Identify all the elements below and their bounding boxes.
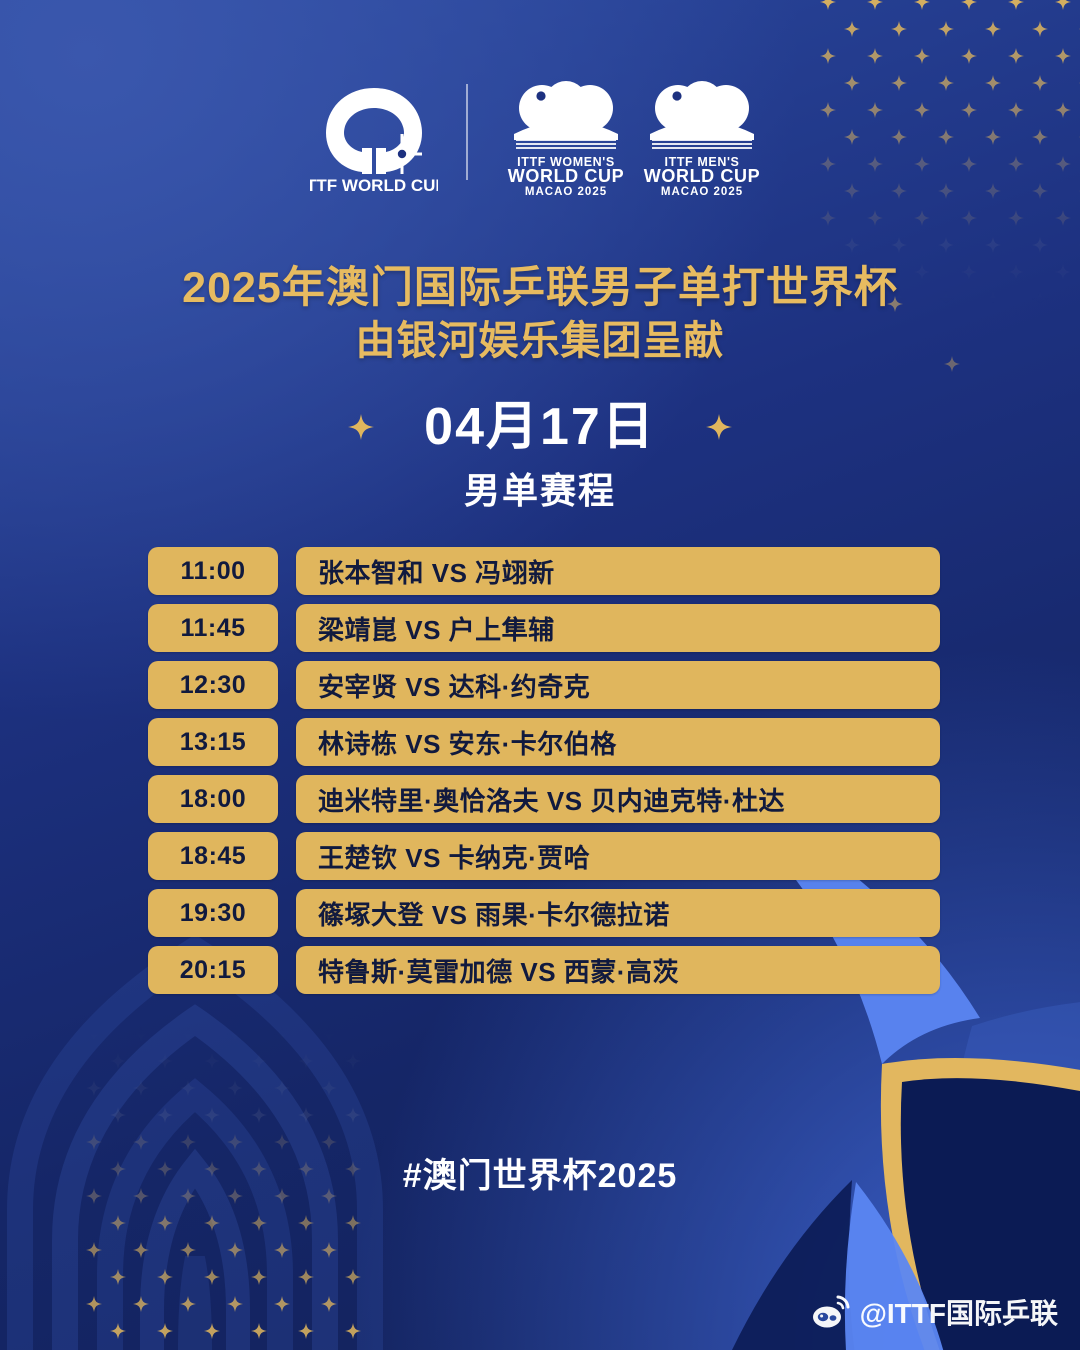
sparkle-icon bbox=[914, 210, 930, 226]
sparkle-icon bbox=[157, 1269, 173, 1285]
sparkle-icon bbox=[204, 1323, 220, 1339]
sparkle-icon bbox=[961, 210, 977, 226]
sparkle-icon bbox=[251, 1323, 267, 1339]
sparkle-icon bbox=[133, 1080, 149, 1096]
sparkle-icon bbox=[204, 1053, 220, 1069]
event-title: 2025年澳门国际乒联男子单打世界杯 由银河娱乐集团呈献 bbox=[0, 262, 1080, 368]
sparkle-icon bbox=[985, 237, 1001, 253]
svg-text:WORLD CUP: WORLD CUP bbox=[644, 166, 760, 186]
sparkle-icon bbox=[110, 1323, 126, 1339]
sparkle-icon bbox=[867, 48, 883, 64]
svg-text:MACAO 2025: MACAO 2025 bbox=[525, 186, 607, 198]
sparkle-icon bbox=[251, 1215, 267, 1231]
sparkle-icon bbox=[227, 1026, 243, 1042]
schedule-row: 11:45梁靖崑 VS 户上隼辅 bbox=[148, 604, 940, 652]
sparkle-icon bbox=[1008, 48, 1024, 64]
sparkle-right-icon bbox=[706, 414, 732, 440]
match-pairing: 篠塚大登 VS 雨果·卡尔德拉诺 bbox=[296, 889, 940, 937]
match-time: 12:30 bbox=[148, 661, 278, 709]
sparkle-icon bbox=[844, 237, 860, 253]
ittf-womens-world-cup-logo: ITTF WOMEN'S WORLD CUP MACAO 2025 bbox=[504, 78, 628, 198]
sparkle-icon bbox=[274, 1026, 290, 1042]
sparkle-icon bbox=[227, 1242, 243, 1258]
sparkle-icon bbox=[1055, 48, 1071, 64]
sparkle-icon bbox=[345, 1215, 361, 1231]
event-title-line-2: 由银河娱乐集团呈献 bbox=[0, 315, 1080, 368]
sparkle-icon bbox=[110, 1053, 126, 1069]
sparkle-icon bbox=[345, 1053, 361, 1069]
sparkle-icon bbox=[321, 1026, 337, 1042]
sparkle-icon bbox=[1055, 0, 1071, 10]
sparkle-icon bbox=[914, 0, 930, 10]
sparkle-icon bbox=[274, 1080, 290, 1096]
schedule-row: 18:00迪米特里·奥恰洛夫 VS 贝内迪克特·杜达 bbox=[148, 775, 940, 823]
ittf-world-cup-wordmark: ITTF WORLD CUP bbox=[310, 176, 438, 195]
sparkle-icon bbox=[251, 1053, 267, 1069]
match-time: 18:45 bbox=[148, 832, 278, 880]
sparkle-icon bbox=[961, 0, 977, 10]
sparkle-icon bbox=[133, 1026, 149, 1042]
sparkle-icon bbox=[820, 210, 836, 226]
schedule-row: 20:15特鲁斯·莫雷加德 VS 西蒙·高茨 bbox=[148, 946, 940, 994]
date-row: 04月17日 bbox=[0, 398, 1080, 456]
schedule-list: 11:00张本智和 VS 冯翊新11:45梁靖崑 VS 户上隼辅12:30安宰贤… bbox=[148, 547, 940, 1003]
sparkle-left-icon bbox=[348, 414, 374, 440]
hashtag: #澳门世界杯2025 bbox=[0, 1148, 1080, 1197]
event-title-line-1: 2025年澳门国际乒联男子单打世界杯 bbox=[0, 262, 1080, 315]
sparkle-icon bbox=[844, 21, 860, 37]
match-pairing: 张本智和 VS 冯翊新 bbox=[296, 547, 940, 595]
sparkle-icon bbox=[1008, 210, 1024, 226]
sparkle-icon bbox=[180, 1296, 196, 1312]
sparkle-icon bbox=[204, 1269, 220, 1285]
sparkle-icon bbox=[298, 1215, 314, 1231]
match-time: 11:45 bbox=[148, 604, 278, 652]
sparkle-icon bbox=[110, 1107, 126, 1123]
sparkle-icon bbox=[820, 48, 836, 64]
weibo-watermark: @ITTF国际乒联 bbox=[812, 1292, 1058, 1332]
sparkle-icon bbox=[204, 1215, 220, 1231]
sparkle-icon bbox=[867, 210, 883, 226]
sparkle-icon bbox=[867, 0, 883, 10]
sparkle-icon bbox=[298, 1323, 314, 1339]
sparkle-icon bbox=[298, 1107, 314, 1123]
ittf-mens-world-cup-logo: ITTF MEN'S WORLD CUP MACAO 2025 bbox=[640, 78, 764, 198]
sparkle-icon bbox=[110, 1215, 126, 1231]
sparkle-icon bbox=[938, 237, 954, 253]
sparkle-icon bbox=[251, 1107, 267, 1123]
sparkle-icon bbox=[180, 1026, 196, 1042]
schedule-row: 18:45王楚钦 VS 卡纳克·贾哈 bbox=[148, 832, 940, 880]
sparkle-icon bbox=[180, 1242, 196, 1258]
match-pairing: 特鲁斯·莫雷加德 VS 西蒙·高茨 bbox=[296, 946, 940, 994]
match-pairing: 林诗栋 VS 安东·卡尔伯格 bbox=[296, 718, 940, 766]
svg-text:MACAO 2025: MACAO 2025 bbox=[661, 186, 743, 198]
sparkle-icon bbox=[298, 1269, 314, 1285]
match-time: 19:30 bbox=[148, 889, 278, 937]
sparkle-icon bbox=[321, 1296, 337, 1312]
sparkle-icon bbox=[274, 1296, 290, 1312]
sparkle-icon bbox=[157, 1323, 173, 1339]
sparkle-icon bbox=[820, 0, 836, 10]
match-pairing: 王楚钦 VS 卡纳克·贾哈 bbox=[296, 832, 940, 880]
sparkle-icon bbox=[227, 1080, 243, 1096]
match-time: 18:00 bbox=[148, 775, 278, 823]
sparkle-icon bbox=[133, 1296, 149, 1312]
schedule-row: 11:00张本智和 VS 冯翊新 bbox=[148, 547, 940, 595]
sparkle-icon bbox=[891, 237, 907, 253]
match-time: 11:00 bbox=[148, 547, 278, 595]
svg-text:WORLD CUP: WORLD CUP bbox=[508, 166, 624, 186]
match-pairing: 安宰贤 VS 达科·约奇克 bbox=[296, 661, 940, 709]
poster-canvas: ITTF WORLD CUP bbox=[0, 0, 1080, 1350]
schedule-row: 19:30篠塚大登 VS 雨果·卡尔德拉诺 bbox=[148, 889, 940, 937]
sparkle-icon bbox=[321, 1242, 337, 1258]
sparkle-icon bbox=[938, 21, 954, 37]
sparkle-icon bbox=[86, 1080, 102, 1096]
sparkle-icon bbox=[157, 1107, 173, 1123]
sparkle-icon bbox=[251, 1269, 267, 1285]
weibo-handle: @ITTF国际乒联 bbox=[860, 1292, 1058, 1332]
sparkle-icon bbox=[157, 1053, 173, 1069]
sparkle-icon bbox=[180, 1080, 196, 1096]
sparkle-icon bbox=[204, 1107, 220, 1123]
sparkle-icon bbox=[345, 1107, 361, 1123]
ittf-world-cup-logo: ITTF WORLD CUP bbox=[310, 78, 438, 196]
match-pairing: 梁靖崑 VS 户上隼辅 bbox=[296, 604, 940, 652]
schedule-row: 12:30安宰贤 VS 达科·约奇克 bbox=[148, 661, 940, 709]
sparkle-icon bbox=[86, 1026, 102, 1042]
event-date: 04月17日 bbox=[424, 398, 656, 456]
sparkle-icon bbox=[86, 1296, 102, 1312]
schedule-row: 13:15林诗栋 VS 安东·卡尔伯格 bbox=[148, 718, 940, 766]
sparkle-icon bbox=[133, 1242, 149, 1258]
match-time: 13:15 bbox=[148, 718, 278, 766]
sparkle-icon bbox=[985, 21, 1001, 37]
logo-divider bbox=[466, 84, 468, 180]
sparkle-icon bbox=[345, 1323, 361, 1339]
sparkle-icon bbox=[110, 1269, 126, 1285]
match-pairing: 迪米特里·奥恰洛夫 VS 贝内迪克特·杜达 bbox=[296, 775, 940, 823]
sparkle-icon bbox=[298, 1053, 314, 1069]
sparkle-icon bbox=[961, 48, 977, 64]
sparkle-icon bbox=[1008, 0, 1024, 10]
sparkle-icon bbox=[86, 1242, 102, 1258]
sparkle-icon bbox=[321, 1080, 337, 1096]
schedule-subtitle: 男单赛程 bbox=[0, 462, 1080, 514]
sparkle-icon bbox=[157, 1215, 173, 1231]
match-time: 20:15 bbox=[148, 946, 278, 994]
logo-row: ITTF WORLD CUP bbox=[0, 78, 1080, 198]
sparkle-icon bbox=[1032, 237, 1048, 253]
sparkle-icon bbox=[1032, 21, 1048, 37]
sparkle-icon bbox=[914, 48, 930, 64]
sparkle-icon bbox=[345, 1269, 361, 1285]
sparkle-icon bbox=[274, 1242, 290, 1258]
sparkle-icon bbox=[227, 1296, 243, 1312]
weibo-icon bbox=[812, 1295, 850, 1329]
sparkle-icon bbox=[891, 21, 907, 37]
sparkle-icon bbox=[1055, 210, 1071, 226]
